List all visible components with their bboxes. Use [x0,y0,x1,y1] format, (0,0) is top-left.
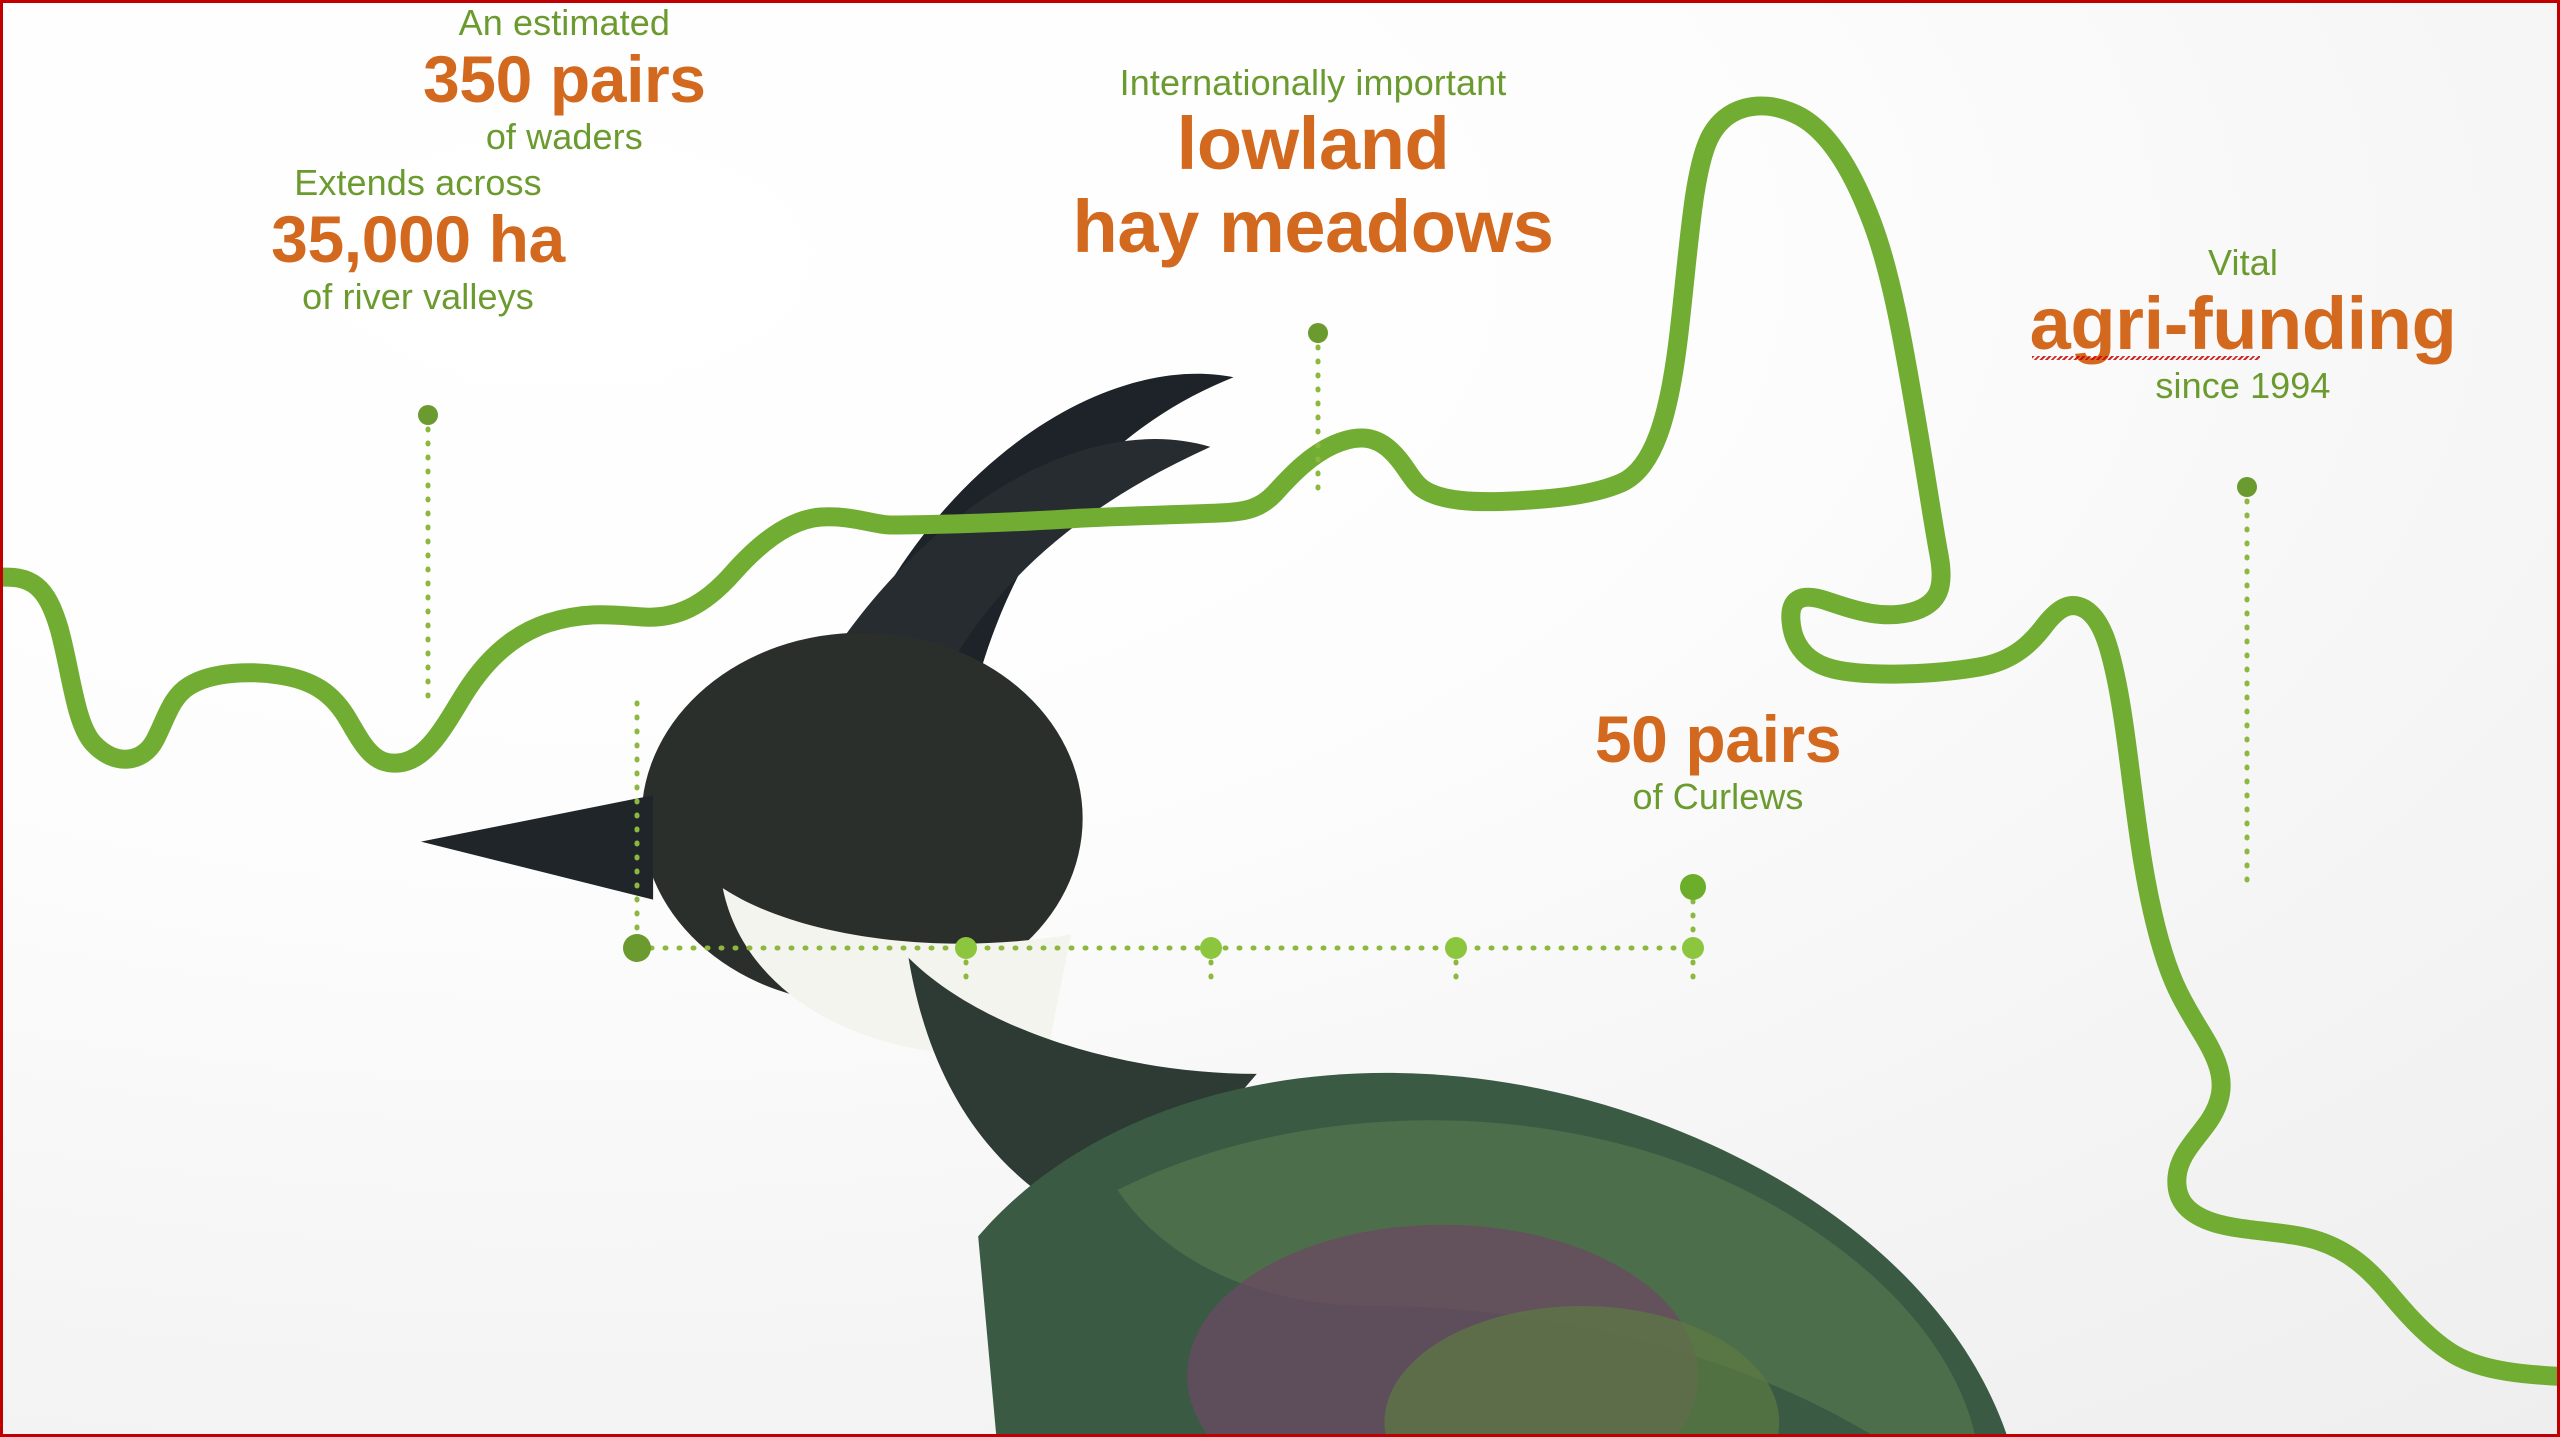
callout-waders-lead: An estimated [423,3,706,43]
callout-agri-headline-wrap: agri-funding [1993,283,2493,366]
callout-agri-lead: Vital [1993,243,2493,283]
callout-waders-trail: of waders [423,117,706,157]
callout-extends-headline: 35,000 ha [183,203,653,277]
callout-extends-across: Extends across 35,000 ha of river valley… [183,163,653,318]
callout-curlew-pairs: 50 pairs of Curlews [1493,703,1943,817]
callout-waders-headline: 350 pairs [423,43,706,117]
callout-wader-pairs: An estimated 350 pairs of waders [423,3,706,158]
callout-agri-funding: Vital agri-funding since 1994 [1993,243,2493,407]
callout-agri-trail: since 1994 [1993,366,2493,406]
callout-hay-meadows: Internationally important lowland hay me… [1033,63,1593,269]
callout-meadows-headline-line2: hay meadows [1033,186,1593,269]
callout-extends-lead: Extends across [183,163,653,203]
callout-curlews-trail: of Curlews [1493,777,1943,817]
infographic-slide: Extends across 35,000 ha of river valley… [0,0,2560,1437]
callout-curlews-headline: 50 pairs [1493,703,1943,777]
callout-extends-trail: of river valleys [183,277,653,317]
callout-meadows-lead: Internationally important [1033,63,1593,103]
callout-agri-headline: agri-funding [2030,283,2457,366]
callout-meadows-headline-line1: lowland [1033,103,1593,186]
